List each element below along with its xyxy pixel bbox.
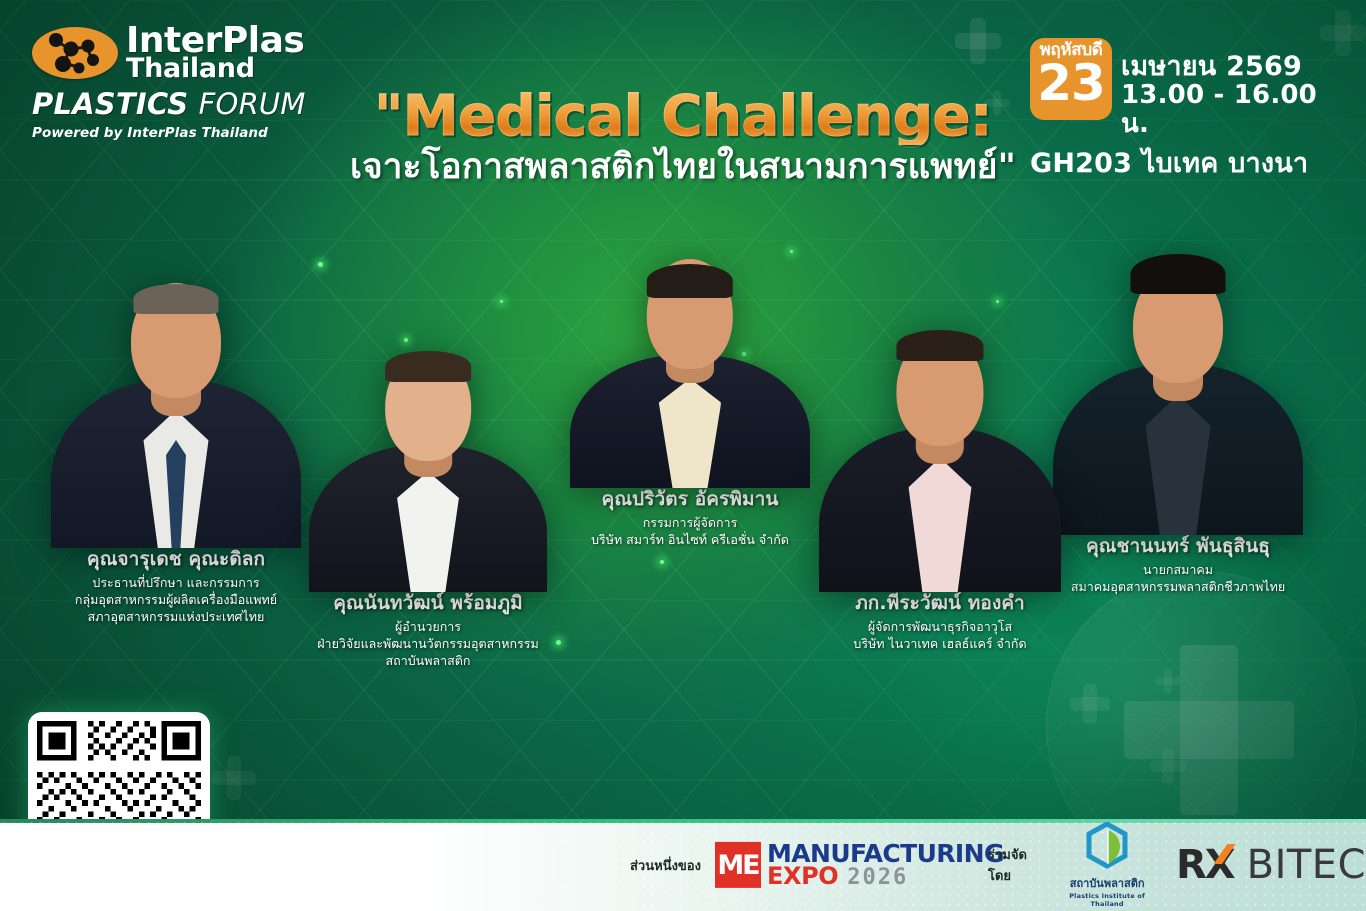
pit-thai-name: สถาบันพลาสติก: [1058, 874, 1156, 892]
speaker-role: ผู้จัดการพัฒนาธุรกิจอาวุโส บริษัท ไนวาเท…: [790, 618, 1090, 653]
speaker-role-line: ฝ่ายวิจัยและพัฒนานวัตกรรมอุตสาหกรรม: [278, 635, 578, 652]
speaker-role-line: ผู้จัดการพัฒนาธุรกิจอาวุโส: [790, 618, 1090, 635]
speaker-card-4: ภก.พีระวัฒน์ ทองคำ ผู้จัดการพัฒนาธุรกิจอ…: [790, 300, 1090, 652]
speaker-photo-4: [819, 300, 1061, 592]
speaker-photo-5: [1053, 230, 1303, 535]
bitec-logo: BITEC: [1247, 842, 1366, 888]
speaker-role-line: ผู้อำนวยการ: [278, 618, 578, 635]
footer-bar: ส่วนหนึ่งของ ME MANUFACTURING EXPO 2026 …: [0, 819, 1366, 911]
speaker-role: ผู้อำนวยการ ฝ่ายวิจัยและพัฒนานวัตกรรมอุต…: [278, 618, 578, 670]
page-title: "Medical Challenge: เจาะโอกาสพลาสติกไทยใ…: [0, 88, 1366, 187]
me-year-text: 2026: [847, 868, 908, 888]
part-of-label: ส่วนหนึ่งของ: [630, 854, 701, 875]
speaker-role-line: บริษัท ไนวาเทค เฮลธ์แคร์ จำกัด: [790, 635, 1090, 652]
pit-english-name: Plastics Institute of Thailand: [1058, 892, 1156, 908]
speaker-photo-2: [309, 330, 547, 592]
speaker-photo-1: [51, 248, 301, 548]
molecule-icon: [32, 27, 118, 79]
plastics-institute-logo: สถาบันพลาสติก Plastics Institute of Thai…: [1058, 822, 1156, 908]
speaker-name: คุณนันทวัฒน์ พร้อมภูมิ: [278, 592, 578, 615]
speaker-photo-3: [570, 250, 810, 488]
title-thai: เจาะโอกาสพลาสติกไทยในสนามการแพทย์": [0, 147, 1366, 187]
me-badge: ME: [715, 842, 761, 888]
me-expo-text: EXPO: [767, 865, 838, 887]
speaker-card-2: คุณนันทวัฒน์ พร้อมภูมิ ผู้อำนวยการ ฝ่ายว…: [278, 330, 578, 670]
manufacturing-expo-logo: ME MANUFACTURING EXPO 2026: [715, 842, 1004, 888]
month-year: เมษายน 2569: [1121, 52, 1336, 81]
rx-logo: RX: [1176, 842, 1234, 888]
me-badge-text: ME: [717, 849, 758, 880]
speaker-name: ภก.พีระวัฒน์ ทองคำ: [790, 592, 1090, 615]
title-english: "Medical Challenge:: [374, 88, 992, 145]
co-organized-label: ร่วมจัดโดย: [988, 844, 1042, 886]
hexagon-leaf-icon: [1084, 822, 1130, 872]
event-poster: คุณจารุเดช คุณะดิลก ประธานที่ปรึกษา และก…: [0, 0, 1366, 911]
speaker-role-line: สถาบันพลาสติก: [278, 652, 578, 669]
